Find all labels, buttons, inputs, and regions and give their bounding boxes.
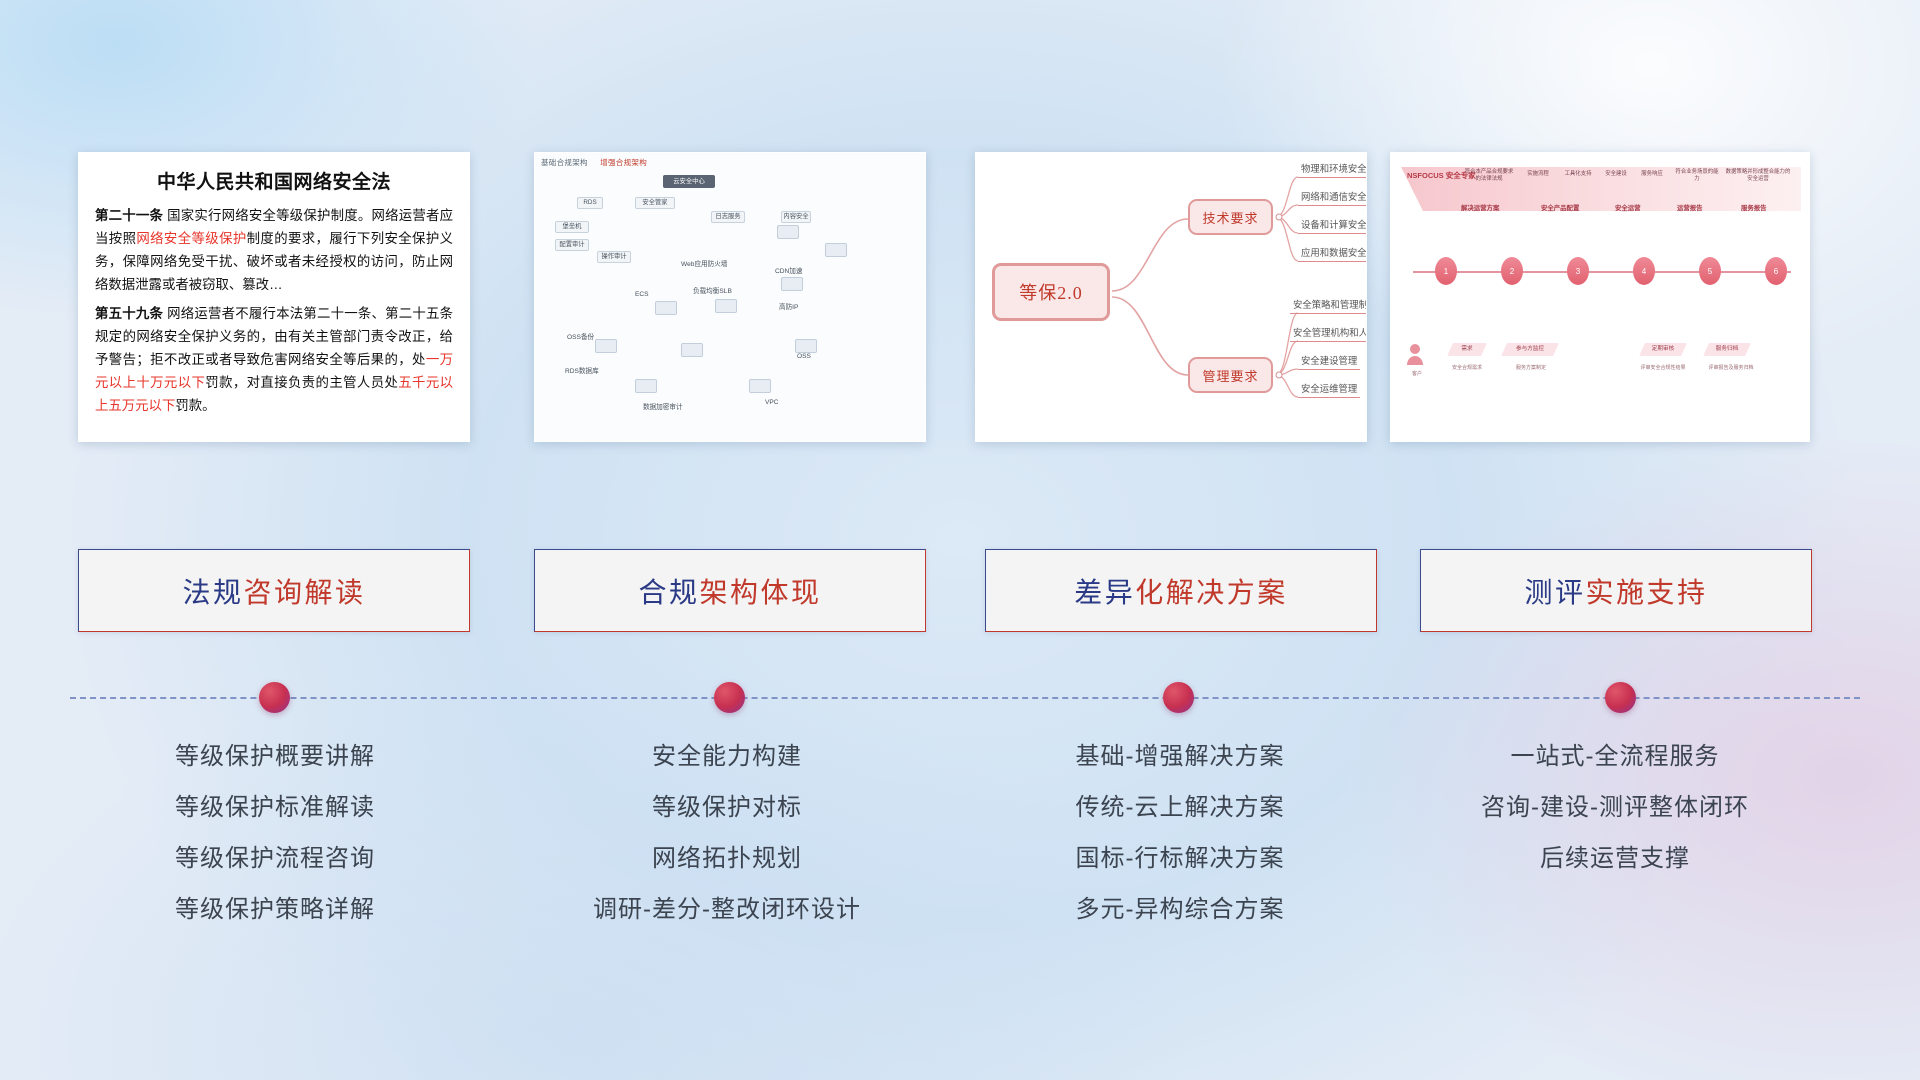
arch-node-security-steward: 安全管家 <box>635 197 675 209</box>
list-item: 网络拓扑规划 <box>512 847 942 871</box>
cards-row: 中华人民共和国网络安全法 第二十一条 国家实行网络安全等级保护制度。网络运营者应… <box>0 0 1920 460</box>
mindmap-leaf-app-data: 应用和数据安全 <box>1298 245 1367 262</box>
pillar-title-1-navy: 法规 <box>182 577 243 608</box>
list-item: 等级保护概要讲解 <box>60 745 490 769</box>
client-head-icon <box>1410 344 1420 354</box>
law-article-59: 第五十九条 网络运营者不履行本法第二十一条、第二十五条规定的网络安全保护义务的，… <box>95 302 453 417</box>
arch-label-rds-db: RDS数据库 <box>565 365 599 375</box>
law-title: 中华人民共和国网络安全法 <box>95 167 453 194</box>
timeline-dot-3[interactable] <box>1163 682 1194 713</box>
pillar-items-2: 安全能力构建 等级保护对标 网络拓扑规划 调研-差分-整改闭环设计 <box>512 745 942 949</box>
pillar-title-box-2[interactable]: 合规架构体现 <box>534 549 926 632</box>
mindmap-branch-technical: 技术要求 <box>1188 199 1273 235</box>
arch-label-oss-backup: OSS备份 <box>567 331 594 341</box>
arch-node-cloud-security-center: 云安全中心 <box>663 175 715 188</box>
card-dengbao-mindmap: 等保2.0 技术要求 管理要求 物理和环境安全 网络和通信安全 设备和计算安全 … <box>975 152 1367 442</box>
pillar-items-4: 一站式-全流程服务 咨询-建设-测评整体闭环 后续运营支撑 <box>1400 745 1830 898</box>
nsfocus-sub-0: 安全合规需求 <box>1439 365 1495 372</box>
nsfocus-sub-1: 服务方案制定 <box>1501 365 1561 372</box>
mindmap: 等保2.0 技术要求 管理要求 物理和环境安全 网络和通信安全 设备和计算安全 … <box>976 153 1366 441</box>
arch-label-vpc: VPC <box>765 399 779 406</box>
arch-node-bastion-host: 堡垒机 <box>555 221 589 233</box>
arch-node-operation-audit: 操作审计 <box>597 251 631 263</box>
nsfocus-sub-2: 评审安全合规性结果 <box>1629 365 1697 372</box>
nsfocus-client-icon-group <box>1391 153 1795 442</box>
arch-node-content-security: 内容安全 <box>781 211 811 223</box>
list-item: 国标-行标解决方案 <box>965 847 1395 871</box>
timeline-dot-1[interactable] <box>259 682 290 713</box>
timeline-dashed-line <box>70 697 1860 699</box>
law-document: 中华人民共和国网络安全法 第二十一条 国家实行网络安全等级保护制度。网络运营者应… <box>79 153 469 425</box>
list-item: 等级保护对标 <box>512 796 942 820</box>
nsfocus-poster: NSFOCUS 安全专家 符合本产品合规要求的法律法规 实施流程 工具化支持 安… <box>1391 153 1809 441</box>
list-item: 咨询-建设-测评整体闭环 <box>1400 796 1830 820</box>
pillar-items-3: 基础-增强解决方案 传统-云上解决方案 国标-行标解决方案 多元-异构综合方案 <box>965 745 1395 949</box>
nsfocus-tag-0: 需求 <box>1447 343 1487 356</box>
card-nsfocus-service-flow: NSFOCUS 安全专家 符合本产品合规要求的法律法规 实施流程 工具化支持 安… <box>1390 152 1810 442</box>
article-59-text-2: 罚款，对直接负责的主管人员处 <box>205 375 398 390</box>
tab-enhanced-architecture[interactable]: 增强合规架构 <box>600 158 647 167</box>
arch-label-anti-ddos: 高防IP <box>779 301 798 311</box>
arch-label-oss: OSS <box>797 353 811 360</box>
mindmap-leaf-network-comm: 网络和通信安全 <box>1298 189 1367 206</box>
arch-label-encryption-audit: 数据加密审计 <box>643 401 683 411</box>
list-item: 后续运营支撑 <box>1400 847 1830 871</box>
pillar-title-box-4[interactable]: 测评实施支持 <box>1420 549 1812 632</box>
arch-label-waf: Web应用防火墙 <box>681 258 727 268</box>
timeline-dot-4[interactable] <box>1605 682 1636 713</box>
mindmap-leaf-device-compute: 设备和计算安全 <box>1298 217 1367 234</box>
article-21-highlight: 网络安全等级保护 <box>136 231 246 246</box>
mindmap-leaf-policy-system: 安全策略和管理制度 <box>1290 297 1367 314</box>
list-item: 调研-差分-整改闭环设计 <box>512 898 942 922</box>
list-item: 多元-异构综合方案 <box>965 898 1395 922</box>
arch-label-slb: 负载均衡SLB <box>693 285 732 295</box>
arch-node-config-audit: 配置审计 <box>555 239 589 251</box>
pillar-title-2-navy: 合规 <box>638 577 699 608</box>
list-item: 等级保护标准解读 <box>60 796 490 820</box>
nsfocus-tag-3: 服务归档 <box>1703 343 1751 356</box>
mindmap-leaf-ops-mgmt: 安全运维管理 <box>1298 381 1360 398</box>
card-cybersecurity-law: 中华人民共和国网络安全法 第二十一条 国家实行网络安全等级保护制度。网络运营者应… <box>78 152 470 442</box>
list-item: 基础-增强解决方案 <box>965 745 1395 769</box>
tab-basic-architecture[interactable]: 基础合规架构 <box>541 158 588 167</box>
nsfocus-tag-1: 参与方监控 <box>1501 343 1559 356</box>
architecture-diagram: 基础合规架构 增强合规架构 云安全中心 安全管家 RDS 堡垒机 配置审计 操作… <box>535 153 925 441</box>
pillar-title-4: 测评实施支持 <box>1524 571 1707 611</box>
pillar-title-4-navy: 测评 <box>1524 577 1585 608</box>
card-compliance-architecture: 基础合规架构 增强合规架构 云安全中心 安全管家 RDS 堡垒机 配置审计 操作… <box>534 152 926 442</box>
client-body-icon <box>1407 356 1423 365</box>
pillar-title-3-navy: 差异 <box>1074 577 1135 608</box>
article-59-text-3: 罚款。 <box>175 398 215 413</box>
mindmap-leaf-physical-env: 物理和环境安全 <box>1298 161 1367 178</box>
pillar-title-2-red: 架构体现 <box>700 577 822 608</box>
pillar-title-box-3[interactable]: 差异化解决方案 <box>985 549 1377 632</box>
pillar-title-1-red: 咨询解读 <box>244 577 366 608</box>
list-item: 一站式-全流程服务 <box>1400 745 1830 769</box>
arch-node-rds: RDS <box>577 197 603 209</box>
nsfocus-client-label: 客户 <box>1397 371 1437 378</box>
arch-label-ecs: ECS <box>635 291 649 298</box>
pillar-title-3-red: 化解决方案 <box>1135 577 1288 608</box>
arch-node-log-service: 日志服务 <box>711 211 745 223</box>
pillar-items-1: 等级保护概要讲解 等级保护标准解读 等级保护流程咨询 等级保护策略详解 <box>60 745 490 949</box>
list-item: 等级保护策略详解 <box>60 898 490 922</box>
nsfocus-sub-3: 评审报告及服务归档 <box>1697 365 1765 372</box>
pillar-title-1: 法规咨询解读 <box>182 571 365 611</box>
pillar-title-3: 差异化解决方案 <box>1074 571 1288 611</box>
list-item: 传统-云上解决方案 <box>965 796 1395 820</box>
mindmap-leaf-construction-mgmt: 安全建设管理 <box>1298 353 1360 370</box>
mindmap-branch-management: 管理要求 <box>1188 357 1273 393</box>
mindmap-root-node: 等保2.0 <box>992 263 1110 321</box>
arch-label-cdn: CDN加速 <box>775 265 802 275</box>
list-item: 安全能力构建 <box>512 745 942 769</box>
pillar-title-2: 合规架构体现 <box>638 571 821 611</box>
pillar-title-4-red: 实施支持 <box>1586 577 1708 608</box>
pillar-title-box-1[interactable]: 法规咨询解读 <box>78 549 470 632</box>
timeline-dot-2[interactable] <box>714 682 745 713</box>
law-article-21: 第二十一条 国家实行网络安全等级保护制度。网络运营者应当按照网络安全等级保护制度… <box>95 204 453 296</box>
article-59-label: 第五十九条 <box>95 306 163 321</box>
list-item: 等级保护流程咨询 <box>60 847 490 871</box>
mindmap-leaf-org-personnel: 安全管理机构和人员 <box>1290 325 1367 342</box>
architecture-tabs: 基础合规架构 增强合规架构 <box>541 157 657 168</box>
article-21-label: 第二十一条 <box>95 208 163 223</box>
nsfocus-tag-2: 定期审核 <box>1639 343 1687 356</box>
